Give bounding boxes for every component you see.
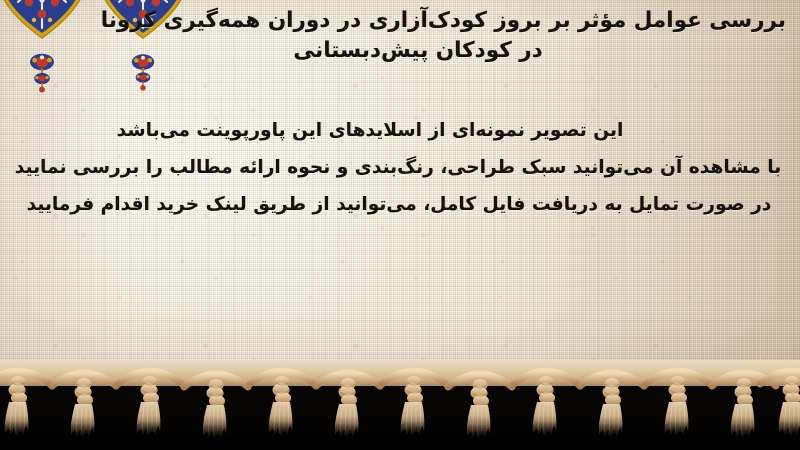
tassel-group xyxy=(0,360,800,450)
body-line-1: این تصویر نمونه‌ای از اسلایدهای این پاور… xyxy=(12,112,788,149)
slide-title: بررسی عوامل مؤثر بر بروز کودک‌آزاری در د… xyxy=(146,6,786,66)
title-line-2: در کودکان پیش‌دبستانی xyxy=(146,36,786,66)
text-layer: بررسی عوامل مؤثر بر بروز کودک‌آزاری در د… xyxy=(0,0,800,372)
slide-body: این تصویر نمونه‌ای از اسلایدهای این پاور… xyxy=(12,112,788,223)
body-line-3: در صورت تمایل به دریافت فایل کامل، می‌تو… xyxy=(12,186,788,223)
tassel-svg xyxy=(0,360,800,450)
title-line-1: بررسی عوامل مؤثر بر بروز کودک‌آزاری در د… xyxy=(146,6,786,36)
body-line-2: با مشاهده آن می‌توانید سبک طراحی، رنگ‌بن… xyxy=(12,149,788,186)
tassel-row xyxy=(0,371,800,440)
carpet-fringe-band xyxy=(0,360,800,450)
slide-canvas: بررسی عوامل مؤثر بر بروز کودک‌آزاری در د… xyxy=(0,0,800,450)
